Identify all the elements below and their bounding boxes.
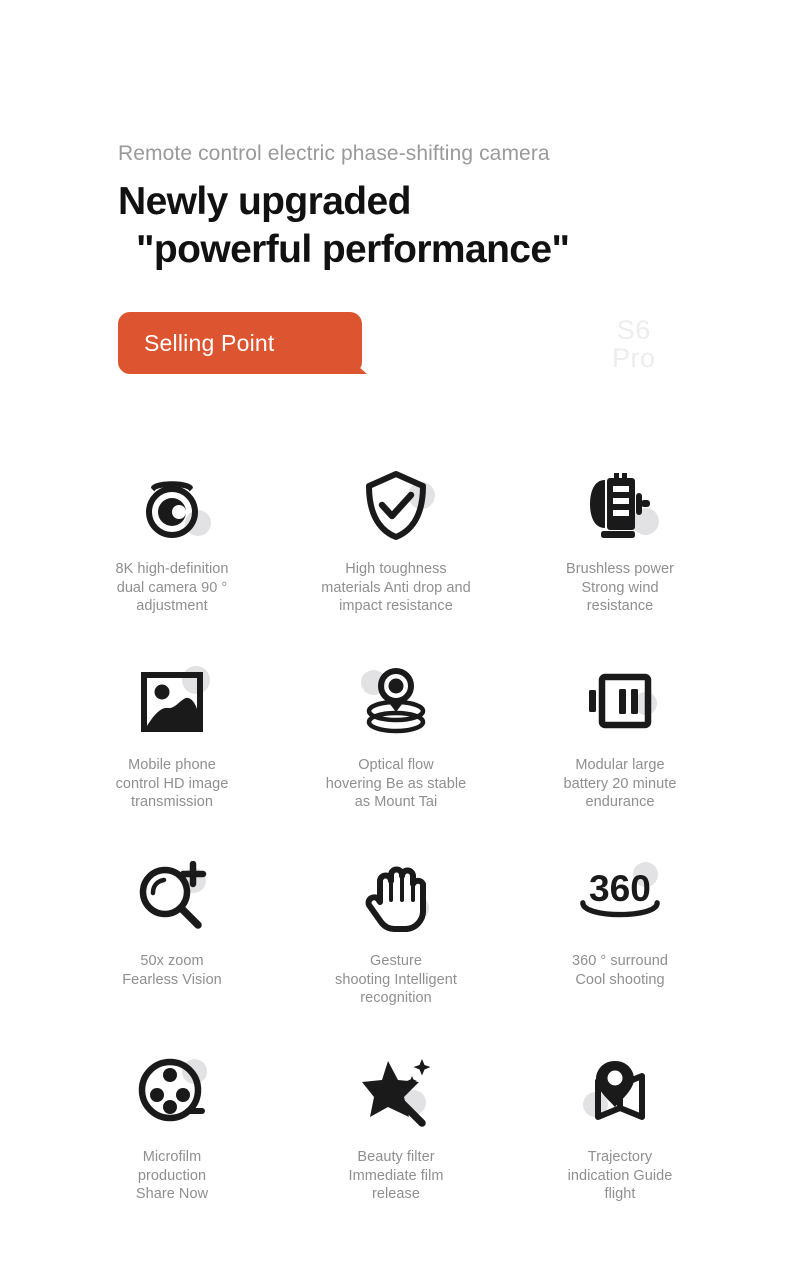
feature-item: 50x zoom Fearless Vision [60,854,284,1050]
optical-flow-hover-icon [360,665,432,737]
feature-grid: 8K high-definition dual camera 90 ° adju… [60,462,732,1246]
caption-line: Cool shooting [572,971,668,990]
feature-caption: Beauty filter Immediate film release [349,1148,444,1204]
badge-tail-icon [351,360,367,374]
caption-line: 50x zoom [122,952,222,971]
feature-caption: 8K high-definition dual camera 90 ° adju… [116,560,229,616]
feature-item: 8K high-definition dual camera 90 ° adju… [60,462,284,658]
caption-line: production [136,1167,208,1186]
caption-line: Fearless Vision [122,971,222,990]
feature-icon-wrap [353,854,439,940]
feature-caption: 360 ° surround Cool shooting [572,952,668,989]
caption-line: shooting Intelligent [335,971,457,990]
feature-caption: Mobile phone control HD image transmissi… [116,756,229,812]
feature-item: Gesture shooting Intelligent recognition [284,854,508,1050]
360-label: 360 [589,867,651,909]
brushless-motor-icon [583,468,657,542]
caption-line: materials Anti drop and [321,579,470,598]
eyebrow-text: Remote control electric phase-shifting c… [118,140,718,168]
feature-caption: Optical flow hovering Be as stable as Mo… [326,756,467,812]
feature-icon-wrap [577,658,663,744]
feature-caption: 50x zoom Fearless Vision [122,952,222,989]
feature-icon-wrap: 360 [577,854,663,940]
magnifier-plus-icon [136,861,208,933]
caption-line: control HD image [116,775,229,794]
selling-point-badge[interactable]: Selling Point [118,312,362,374]
feature-caption: Modular large battery 20 minute enduranc… [564,756,677,812]
caption-line: impact resistance [321,597,470,616]
product-watermark: S6 Pro [612,316,656,372]
hand-gesture-icon [363,860,429,934]
caption-line: dual camera 90 ° [116,579,229,598]
caption-line: Modular large [564,756,677,775]
caption-line: Strong wind [566,579,674,598]
magic-wand-star-icon [360,1057,432,1129]
caption-line: Mobile phone [116,756,229,775]
map-location-icon [582,1059,658,1127]
camera-lens-icon [134,467,210,543]
watermark-line-1: S6 [612,316,656,344]
caption-line: Share Now [136,1185,208,1204]
caption-line: Beauty filter [349,1148,444,1167]
feature-icon-wrap [129,1050,215,1136]
feature-icon-wrap [353,462,439,548]
caption-line: release [349,1185,444,1204]
feature-caption: Trajectory indication Guide flight [568,1148,673,1204]
feature-icon-wrap [353,1050,439,1136]
battery-icon [586,670,654,732]
feature-icon-wrap [129,854,215,940]
caption-line: as Mount Tai [326,793,467,812]
caption-line: hovering Be as stable [326,775,467,794]
caption-line: recognition [335,989,457,1008]
feature-caption: High toughness materials Anti drop and i… [321,560,470,616]
caption-line: 360 ° surround [572,952,668,971]
feature-item: Beauty filter Immediate film release [284,1050,508,1246]
feature-caption: Gesture shooting Intelligent recognition [335,952,457,1008]
caption-line: 8K high-definition [116,560,229,579]
feature-item: Modular large battery 20 minute enduranc… [508,658,732,854]
feature-caption: Microfilm production Share Now [136,1148,208,1204]
shield-check-icon [361,469,431,541]
caption-line: battery 20 minute [564,775,677,794]
headline-line-1: Newly upgraded [118,178,718,225]
feature-item: Microfilm production Share Now [60,1050,284,1246]
promo-page: Remote control electric phase-shifting c… [0,0,790,1287]
feature-item: Trajectory indication Guide flight [508,1050,732,1246]
feature-icon-wrap [129,462,215,548]
photo-image-icon [138,667,206,735]
caption-line: flight [568,1185,673,1204]
watermark-line-2: Pro [612,344,656,372]
feature-icon-wrap [353,658,439,744]
feature-item: High toughness materials Anti drop and i… [284,462,508,658]
page-header: Remote control electric phase-shifting c… [118,140,718,274]
headline-line-2: "powerful performance" [118,225,718,274]
badge-label: Selling Point [144,328,274,358]
feature-item: Optical flow hovering Be as stable as Mo… [284,658,508,854]
caption-line: Brushless power [566,560,674,579]
caption-line: indication Guide [568,1167,673,1186]
caption-line: adjustment [116,597,229,616]
film-reel-icon [136,1057,208,1129]
caption-line: Immediate film [349,1167,444,1186]
caption-line: endurance [564,793,677,812]
caption-line: Gesture [335,952,457,971]
caption-line: resistance [566,597,674,616]
360-degree-icon: 360 [577,866,663,928]
caption-line: Optical flow [326,756,467,775]
feature-item: Brushless power Strong wind resistance [508,462,732,658]
caption-line: Microfilm [136,1148,208,1167]
badge-bubble[interactable]: Selling Point [118,312,362,374]
feature-item: 360 360 ° surround Cool shooting [508,854,732,1050]
feature-icon-wrap [577,462,663,548]
caption-line: Trajectory [568,1148,673,1167]
caption-line: High toughness [321,560,470,579]
feature-item: Mobile phone control HD image transmissi… [60,658,284,854]
caption-line: transmission [116,793,229,812]
feature-icon-wrap [129,658,215,744]
feature-caption: Brushless power Strong wind resistance [566,560,674,616]
feature-icon-wrap [577,1050,663,1136]
